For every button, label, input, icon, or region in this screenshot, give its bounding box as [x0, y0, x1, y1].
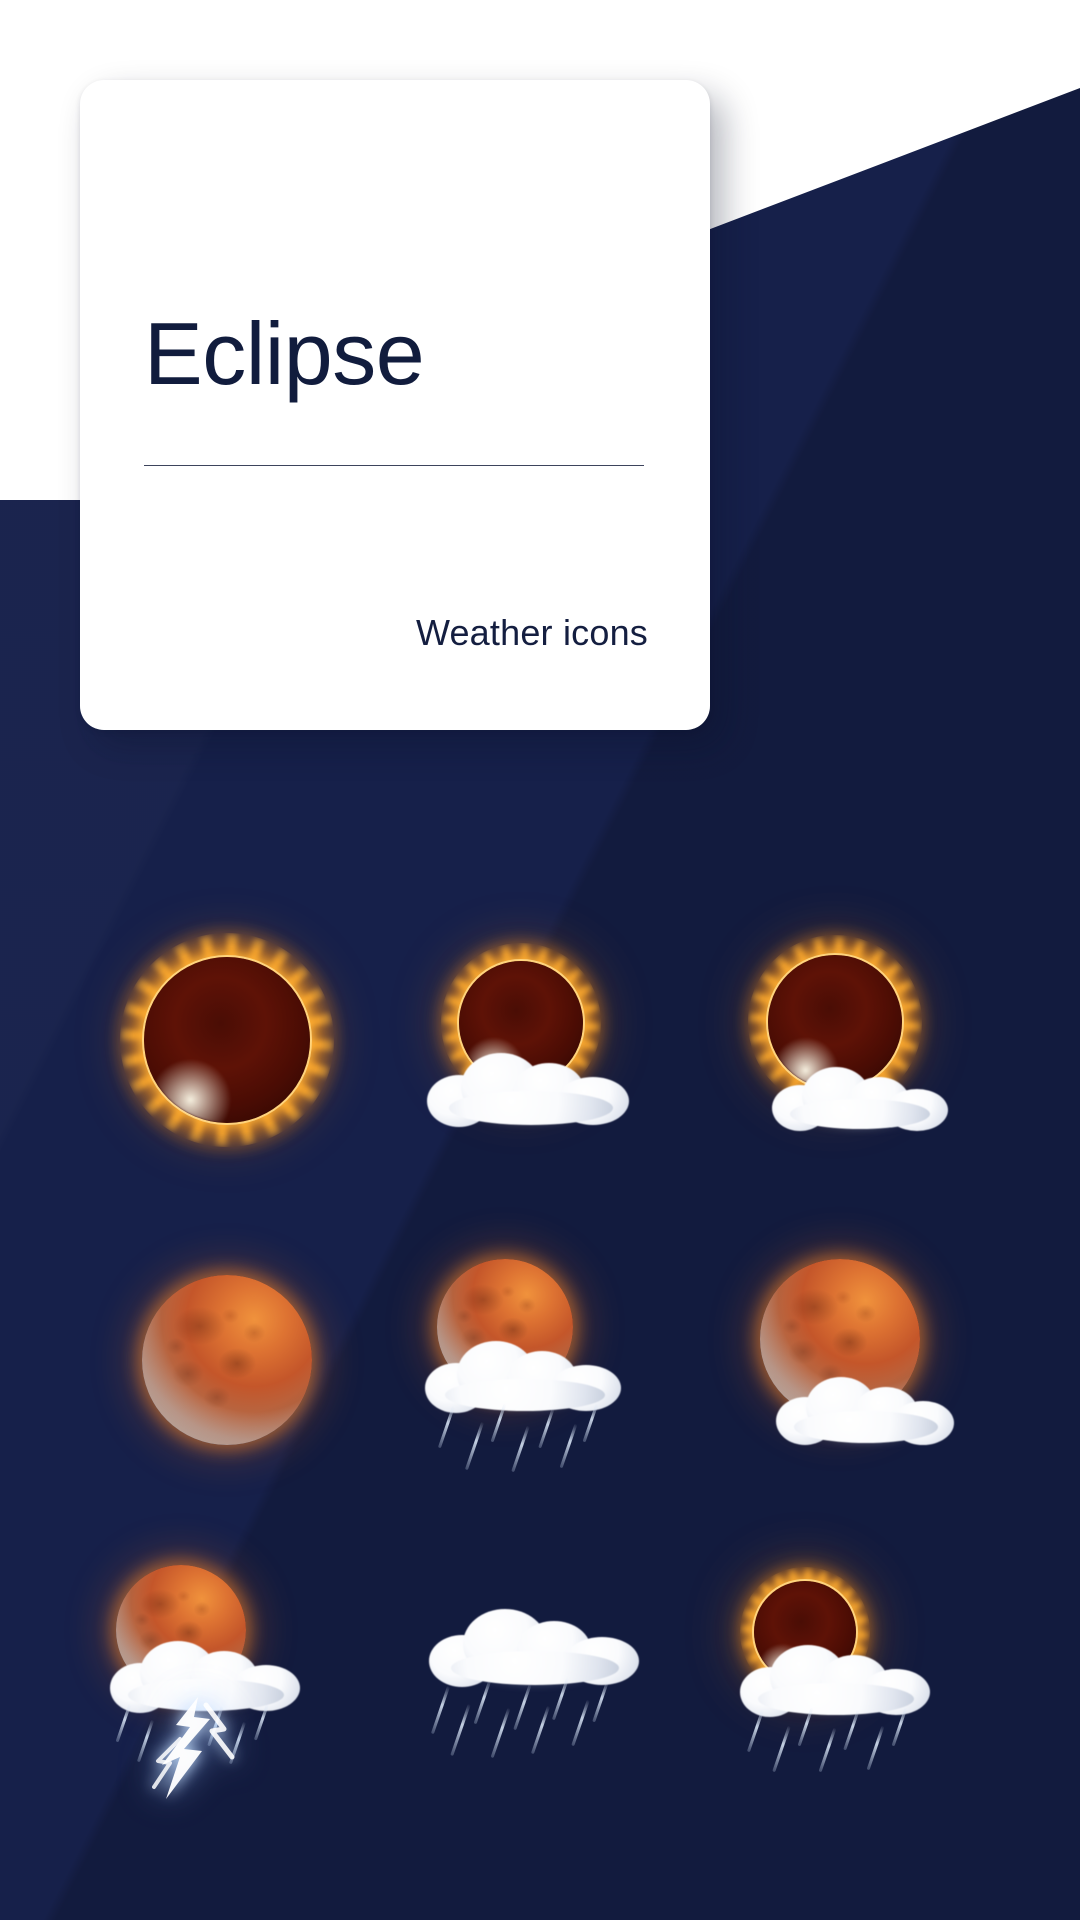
rain-drop — [892, 1708, 908, 1747]
rain-drop — [819, 1728, 837, 1772]
icon-cell-blood-moon-cloud[interactable] — [697, 1200, 1010, 1520]
cloud-shape — [776, 1371, 956, 1447]
cloud-puff — [794, 1411, 938, 1443]
solar-eclipse-partly-cloudy-icon — [728, 915, 978, 1165]
rain-drop — [465, 1422, 484, 1470]
cloud-shape — [429, 1601, 643, 1687]
rain-drop — [450, 1704, 470, 1756]
rain-drop — [583, 1404, 599, 1443]
rain-drop — [798, 1708, 814, 1747]
blood-moon-cloud-icon — [728, 1235, 978, 1485]
lightning-bolt-icon — [136, 1695, 256, 1805]
rain-drop — [491, 1708, 511, 1758]
moon-limb-shading — [142, 1275, 312, 1445]
icon-cell-solar-eclipse-partly-cloudy[interactable] — [697, 880, 1010, 1200]
rain-drop — [747, 1710, 764, 1753]
rain-drops — [439, 1403, 629, 1493]
title-divider — [144, 465, 644, 466]
rain-drop — [115, 1704, 131, 1743]
rain-drop — [571, 1700, 589, 1746]
eclipse-rim-highlight — [144, 957, 310, 1123]
icon-cell-rain-cloud[interactable] — [383, 1520, 696, 1840]
rain-drop — [513, 1684, 531, 1730]
solar-eclipse-rain-icon — [728, 1555, 978, 1805]
rain-drop — [254, 1704, 269, 1741]
blood-moon-thunderstorm-icon — [102, 1555, 352, 1805]
cloud-shape — [740, 1637, 940, 1717]
rain-drop — [552, 1678, 569, 1721]
rain-drop — [474, 1680, 492, 1724]
rain-drop — [491, 1404, 507, 1443]
title-card-content: Eclipse Weather icons — [80, 80, 710, 730]
card-subtitle: Weather icons — [416, 612, 648, 654]
cloud-shape — [425, 1331, 631, 1413]
rain-drop — [531, 1706, 550, 1754]
rain-drops — [750, 1707, 940, 1797]
blood-moon-rain-icon — [415, 1235, 665, 1485]
page-title: Eclipse — [144, 310, 424, 398]
rain-drop — [438, 1406, 455, 1449]
solar-eclipse-cloud-icon — [415, 915, 665, 1165]
icon-cell-solar-eclipse-rain[interactable] — [697, 1520, 1010, 1840]
icon-cell-blood-moon-thunderstorm[interactable] — [70, 1520, 383, 1840]
rain-drop — [511, 1426, 529, 1472]
rain-drop — [844, 1710, 861, 1751]
solar-eclipse-icon — [102, 915, 352, 1165]
cloud-shape — [772, 1061, 950, 1133]
icon-cell-solar-eclipse[interactable] — [70, 880, 383, 1200]
eclipse-disc — [144, 957, 310, 1123]
cloud-shape — [427, 1041, 637, 1127]
weather-icon-grid — [70, 880, 1010, 1840]
rain-drop — [592, 1682, 609, 1723]
icon-cell-blood-moon-rain[interactable] — [383, 1200, 696, 1520]
rain-drop — [431, 1686, 450, 1734]
icon-cell-lunar-eclipse-blood-moon[interactable] — [70, 1200, 383, 1520]
title-card: Eclipse Weather icons — [80, 80, 710, 730]
icon-cell-solar-eclipse-cloud[interactable] — [383, 880, 696, 1200]
lunar-eclipse-blood-moon-icon — [102, 1235, 352, 1485]
rain-drop — [867, 1726, 885, 1770]
rain-cloud-icon — [415, 1555, 665, 1805]
cloud-puff — [790, 1099, 930, 1129]
rain-drops — [435, 1677, 635, 1777]
rain-drop — [560, 1424, 578, 1468]
cloud-puff — [449, 1091, 613, 1125]
rain-drop — [773, 1726, 791, 1772]
rain-drop — [538, 1408, 555, 1449]
